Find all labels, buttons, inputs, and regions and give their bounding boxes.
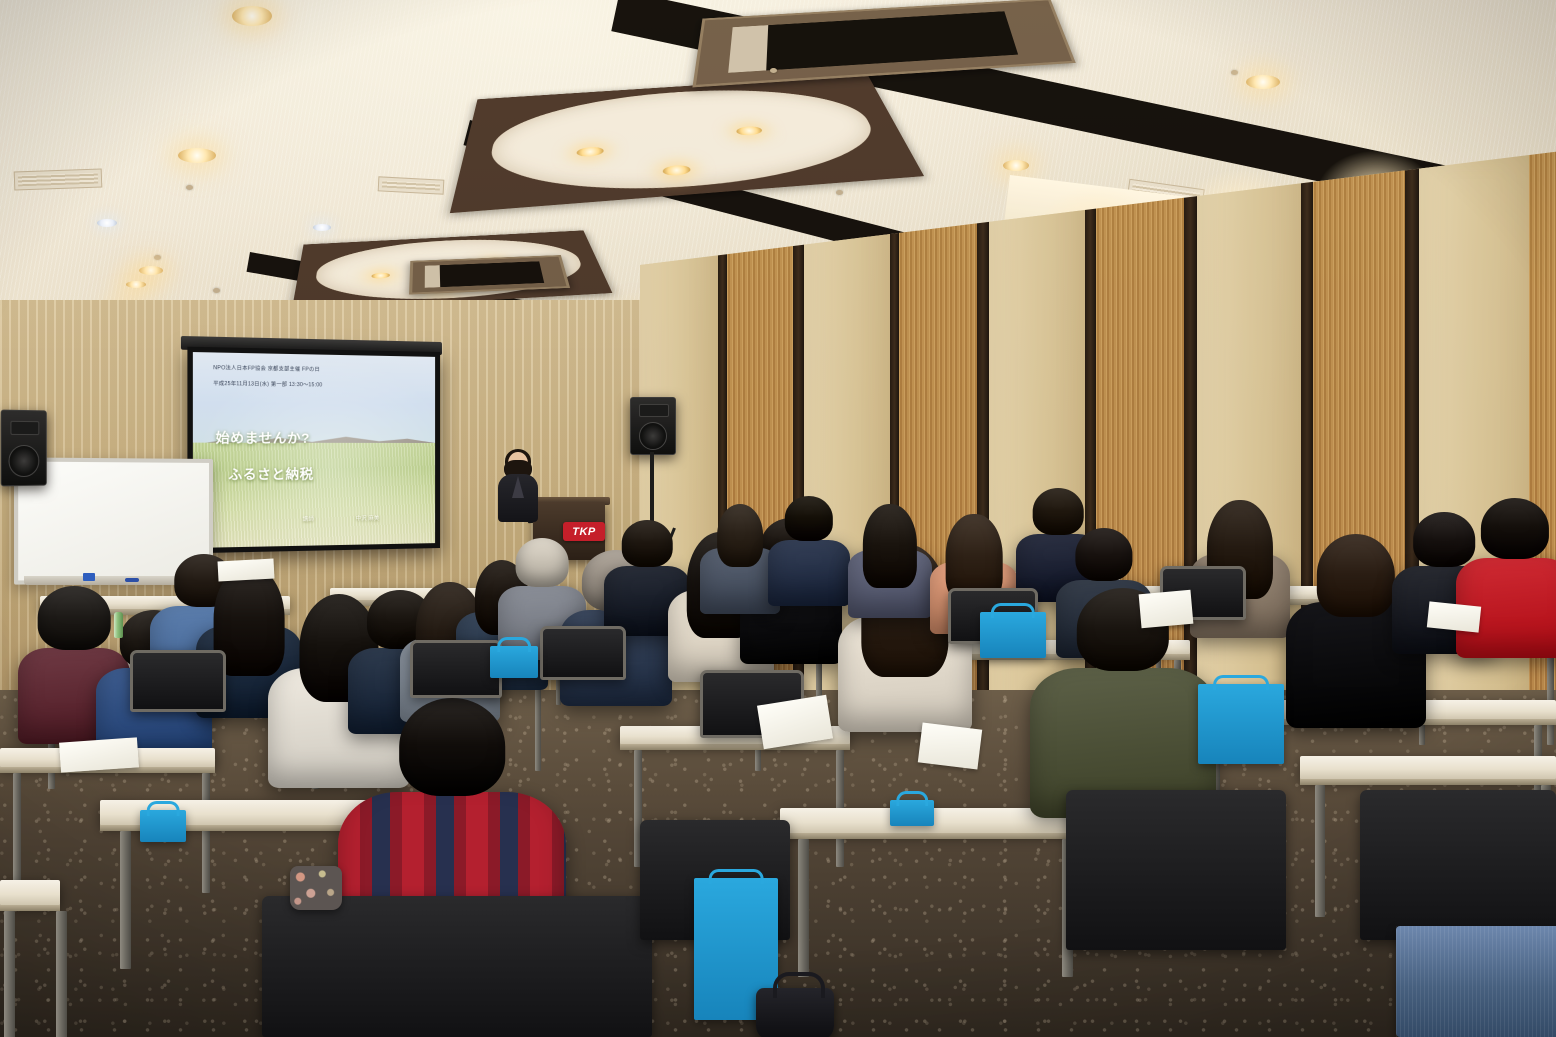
chair-back xyxy=(1360,790,1556,940)
audience-member xyxy=(1030,590,1216,818)
audience-hair xyxy=(1075,528,1132,581)
desk xyxy=(0,880,60,906)
water-bottle xyxy=(114,612,123,638)
chair-back xyxy=(540,626,626,680)
handbag xyxy=(756,988,834,1037)
slide-credit-role: 講師 xyxy=(302,515,313,523)
tkp-logo: TKP xyxy=(563,522,605,541)
linear-air-vent xyxy=(14,168,103,190)
handout-paper xyxy=(918,722,982,769)
tote-bag xyxy=(890,800,934,826)
desk-edge xyxy=(620,744,850,750)
tote-bag xyxy=(140,810,186,842)
desk-leg xyxy=(4,911,15,1037)
sprinkler-icon xyxy=(770,68,777,73)
tote-handle xyxy=(991,603,1035,618)
sprinkler-icon xyxy=(186,185,193,190)
lecture-hall-photo: NPO法人日本FP協会 京都支部主催 FPの日 平成25年11月13日(水) 第… xyxy=(0,0,1556,1037)
downlight-icon xyxy=(1246,75,1280,89)
presentation-slide: NPO法人日本FP協会 京都支部主催 FPの日 平成25年11月13日(水) 第… xyxy=(193,352,435,548)
tote-bag xyxy=(1198,684,1284,764)
tote-handle xyxy=(147,801,180,816)
audience-hair xyxy=(1317,534,1395,617)
downlight-icon xyxy=(1003,160,1029,171)
chair-back xyxy=(1066,790,1286,950)
slide-title-line-2: ふるさと納税 xyxy=(228,463,313,483)
audience-hair xyxy=(399,698,505,796)
handout-paper xyxy=(218,559,275,582)
slide-title-line-1: 始めませんか? xyxy=(216,427,310,447)
floral-pouch xyxy=(290,866,342,910)
chair-back xyxy=(262,896,652,1037)
audience-hair xyxy=(863,504,917,588)
audience-hair xyxy=(1481,498,1549,559)
sprinkler-icon xyxy=(1231,70,1238,75)
audience-member xyxy=(848,506,932,618)
chair-back xyxy=(410,640,502,698)
desk-edge xyxy=(780,833,1080,839)
tote-handle xyxy=(497,637,531,652)
tote-handle xyxy=(709,869,764,884)
sprinkler-icon xyxy=(154,255,161,260)
chair-back xyxy=(130,650,226,712)
audience-hair xyxy=(622,520,673,567)
pa-speaker-right xyxy=(630,397,676,455)
audience-member xyxy=(1456,500,1556,658)
slide-credit-name: 中沢 麻美 xyxy=(355,514,379,522)
desk-leg xyxy=(202,773,210,893)
tote-handle xyxy=(896,791,928,806)
sprinkler-icon xyxy=(213,288,220,293)
denim-jacket-on-chair xyxy=(1396,926,1556,1037)
audience-hair xyxy=(1033,488,1084,535)
tote-handle xyxy=(1213,675,1269,690)
desk-edge xyxy=(1300,779,1556,785)
whiteboard-marker xyxy=(125,578,139,582)
desk-leg xyxy=(1315,785,1325,917)
handout-paper xyxy=(59,737,139,772)
wall-panel-dark xyxy=(977,150,989,770)
desk xyxy=(1300,756,1556,780)
tote-bag xyxy=(980,612,1046,658)
tote-bag xyxy=(490,646,538,678)
downlight-icon xyxy=(126,281,146,288)
pa-speaker-left xyxy=(1,410,47,487)
wall-panel-light xyxy=(1419,150,1529,770)
desk-leg xyxy=(13,773,21,893)
whiteboard-eraser xyxy=(83,573,95,581)
downlight-icon xyxy=(97,219,117,227)
audience-hair xyxy=(785,496,833,541)
desk-leg xyxy=(56,911,67,1037)
downlight-icon xyxy=(313,224,331,231)
downlight-icon xyxy=(232,6,272,26)
handout-paper xyxy=(1427,601,1481,632)
desk-leg xyxy=(798,839,809,977)
downlight-icon xyxy=(178,148,216,163)
audience-hair xyxy=(717,504,763,567)
sprinkler-icon xyxy=(836,190,843,195)
presenter xyxy=(496,452,540,522)
handout-paper xyxy=(1139,590,1194,628)
projection-screen: NPO法人日本FP協会 京都支部主催 FPの日 平成25年11月13日(水) 第… xyxy=(187,347,440,554)
ac-vent-icon xyxy=(409,255,570,294)
downlight-icon xyxy=(139,266,163,275)
desk-leg xyxy=(120,831,131,969)
